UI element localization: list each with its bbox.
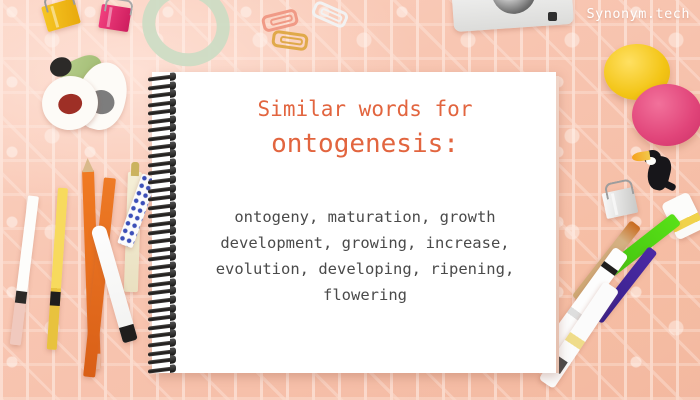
query-word: ontogenesis:: [178, 128, 552, 162]
page-edge: [556, 76, 559, 373]
camera-button-icon: [548, 12, 557, 21]
synonym-line: evolution, developing, ripening,: [184, 256, 546, 282]
spiral-ring: [148, 340, 174, 347]
synonym-list: ontogeny, maturation, growth development…: [178, 204, 552, 308]
synonym-line: development, growing, increase,: [184, 230, 546, 256]
synonym-line: flowering: [184, 282, 546, 308]
spiral-ring: [148, 255, 174, 262]
screenshot-canvas: Similar words for ontogenesis: ontogeny,…: [0, 0, 700, 400]
page-content: Similar words for ontogenesis: ontogeny,…: [178, 72, 552, 373]
spiral-ring: [148, 237, 174, 244]
heading-similar-words-for: Similar words for: [178, 96, 552, 123]
pink-macaron-icon: [632, 84, 700, 146]
spiral-ring: [148, 297, 174, 304]
spiral-ring: [148, 177, 174, 184]
synonym-line: ontogeny, maturation, growth: [184, 204, 546, 230]
spiral-ring: [148, 194, 174, 201]
spiral-ring: [148, 74, 174, 81]
spiral-ring: [148, 357, 174, 364]
toucan-figurine-icon: [638, 150, 678, 194]
spiral-ring: [148, 152, 174, 159]
pink-binder-clip-icon: [98, 4, 131, 32]
spiral-binding: [148, 76, 178, 372]
spiral-ring: [148, 134, 174, 141]
site-watermark: Synonym.tech: [586, 6, 690, 22]
spiral-ring: [148, 92, 174, 99]
spiral-ring: [148, 315, 174, 322]
